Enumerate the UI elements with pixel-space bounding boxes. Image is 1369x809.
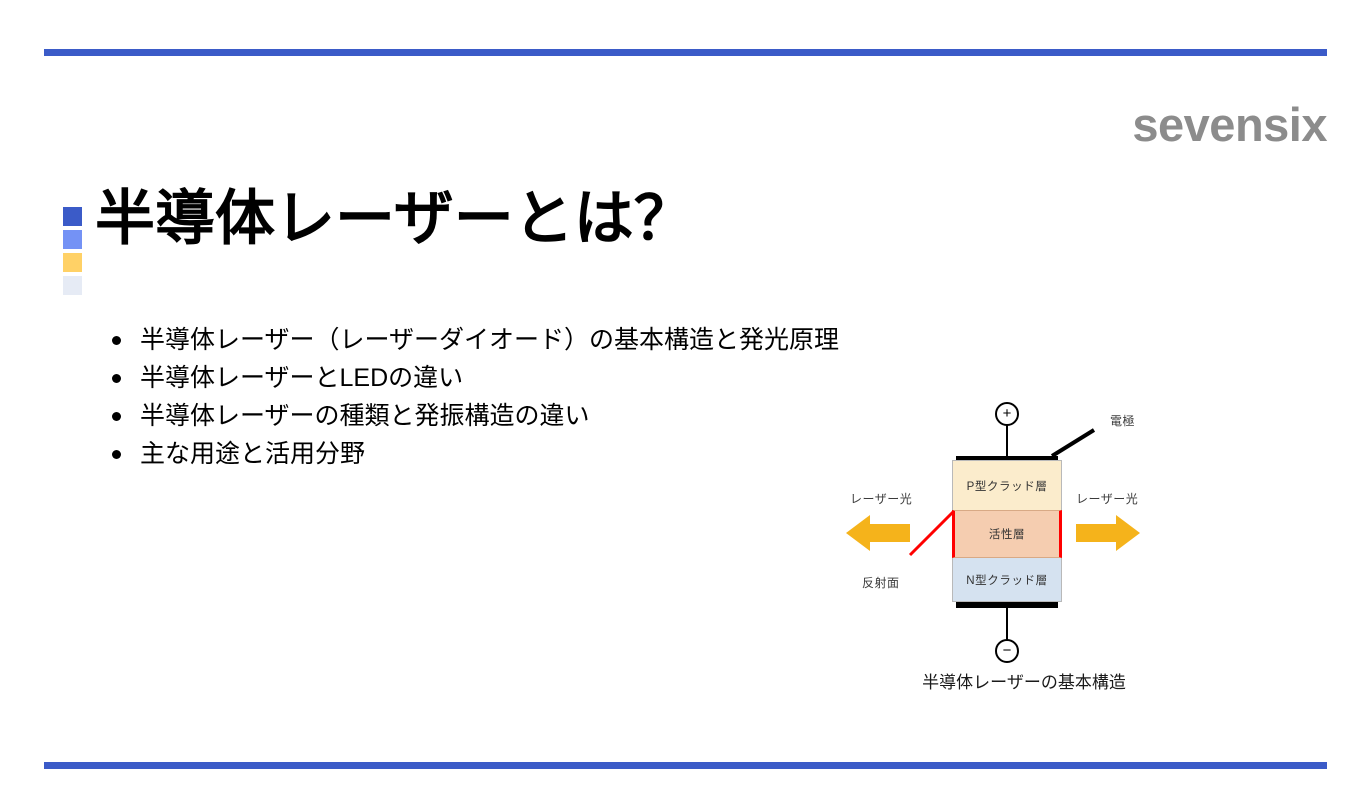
slide: sevensix 半導体レーザーとは？ 半導体レーザー（レーザーダイオード）の基… xyxy=(0,0,1369,809)
laser-beam-arrow-right-icon xyxy=(1076,514,1140,552)
top-accent-rule xyxy=(44,49,1327,56)
square-dark-blue xyxy=(63,207,82,226)
list-item: 主な用途と活用分野 xyxy=(108,435,839,473)
label-laser-light-right: レーザー光 xyxy=(1076,490,1138,507)
n-clad-layer: N型クラッド層 xyxy=(952,558,1062,602)
reflective-facet-callout-line-icon xyxy=(908,509,956,557)
label-electrode: 電極 xyxy=(1110,412,1135,429)
page-title: 半導体レーザーとは？ xyxy=(95,185,694,252)
list-item: 半導体レーザーとLEDの違い xyxy=(108,359,839,397)
square-yellow xyxy=(63,253,82,272)
label-laser-light-left: レーザー光 xyxy=(850,490,912,507)
brand-logo: sevensix xyxy=(1132,101,1327,148)
label-reflective-facet: 反射面 xyxy=(862,574,900,591)
bottom-accent-rule xyxy=(44,762,1327,769)
diode-layer-stack: P型クラッド層 活性層 N型クラッド層 xyxy=(952,460,1062,602)
square-light-blue xyxy=(63,230,82,249)
bullet-list: 半導体レーザー（レーザーダイオード）の基本構造と発光原理 半導体レーザーとLED… xyxy=(108,321,839,473)
p-clad-layer: P型クラッド層 xyxy=(952,460,1062,510)
cathode-lead-wire xyxy=(1006,606,1008,640)
electrode-callout-line-icon xyxy=(1050,428,1096,458)
laser-beam-arrow-left-icon xyxy=(846,514,910,552)
positive-terminal-icon: + xyxy=(995,402,1019,426)
title-block: 半導体レーザーとは？ xyxy=(63,185,694,295)
active-layer: 活性層 xyxy=(952,510,1062,558)
list-item: 半導体レーザー（レーザーダイオード）の基本構造と発光原理 xyxy=(108,321,839,359)
list-item: 半導体レーザーの種類と発振構造の違い xyxy=(108,397,839,435)
laser-diode-diagram: + P型クラッド層 活性層 N型クラッド層 − レーザー光 レーザー光 電極 反… xyxy=(838,396,1210,696)
figure-caption: 半導体レーザーの基本構造 xyxy=(838,668,1210,693)
negative-terminal-icon: − xyxy=(995,639,1019,663)
title-decoration-squares xyxy=(63,207,82,295)
square-pale-blue xyxy=(63,276,82,295)
anode-lead-wire xyxy=(1006,425,1008,459)
